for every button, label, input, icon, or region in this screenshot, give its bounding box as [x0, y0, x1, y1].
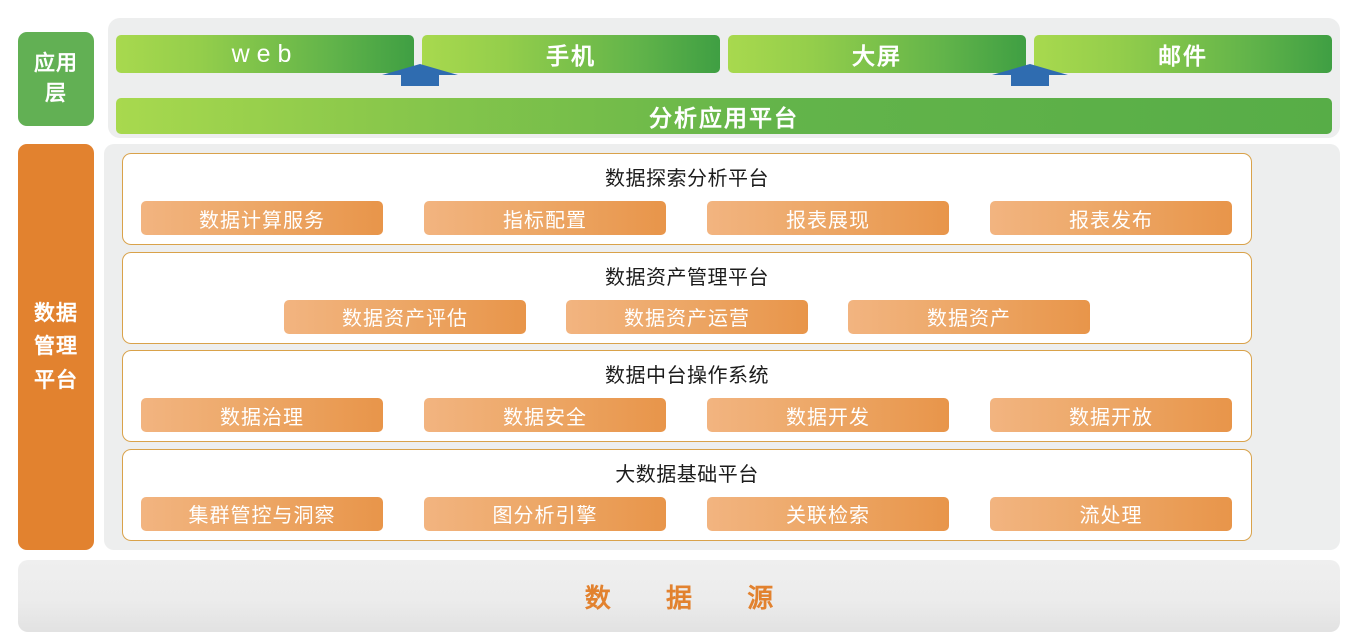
up-arrow-right-icon	[992, 64, 1068, 86]
data-management-platform-tag: 数据 管理 平台	[18, 144, 94, 550]
panel-bigdata-foundation: 大数据基础平台 集群管控与洞察 图分析引擎 关联检索 流处理	[122, 449, 1252, 541]
chip-data-security[interactable]: 数据安全	[424, 398, 666, 432]
application-channel-row: web 手机 大屏 邮件	[116, 35, 1332, 73]
panel-title: 数据资产管理平台	[123, 261, 1251, 290]
chip-data-governance[interactable]: 数据治理	[141, 398, 383, 432]
channel-chip-email[interactable]: 邮件	[1034, 35, 1332, 73]
up-arrow-left-icon	[382, 64, 458, 86]
data-management-container: 数据探索分析平台 数据计算服务 指标配置 报表展现 报表发布 数据资产管理平台 …	[104, 144, 1340, 550]
application-layer-tag-line-2: 层	[45, 79, 67, 109]
chip-data-asset[interactable]: 数据资产	[848, 300, 1090, 334]
application-layer-tag: 应用 层	[18, 32, 94, 126]
data-source-label: 数 据 源	[561, 578, 797, 615]
chip-data-asset-operation[interactable]: 数据资产运营	[566, 300, 808, 334]
panel-title: 大数据基础平台	[123, 458, 1251, 487]
panel-chip-row: 数据计算服务 指标配置 报表展现 报表发布	[141, 201, 1233, 235]
chip-data-compute-service[interactable]: 数据计算服务	[141, 201, 383, 235]
analysis-application-platform-bar[interactable]: 分析应用平台	[116, 98, 1332, 134]
application-layer-tag-line-1: 应用	[34, 49, 78, 79]
data-management-tag-line-2: 管理	[34, 330, 78, 364]
data-source-bar: 数 据 源	[18, 560, 1340, 632]
chip-data-development[interactable]: 数据开发	[707, 398, 949, 432]
data-management-tag-line-1: 数据	[34, 297, 78, 331]
panel-data-asset-management: 数据资产管理平台 数据资产评估 数据资产运营 数据资产	[122, 252, 1252, 344]
chip-cluster-control-insight[interactable]: 集群管控与洞察	[141, 497, 383, 531]
chip-association-search[interactable]: 关联检索	[707, 497, 949, 531]
chip-graph-analysis-engine[interactable]: 图分析引擎	[424, 497, 666, 531]
chip-data-openness[interactable]: 数据开放	[990, 398, 1232, 432]
channel-chip-mobile[interactable]: 手机	[422, 35, 720, 73]
channel-chip-web[interactable]: web	[116, 35, 414, 73]
panel-chip-row: 数据资产评估 数据资产运营 数据资产	[155, 300, 1219, 334]
application-layer-panel: web 手机 大屏 邮件 分析应用平台	[108, 18, 1340, 138]
panel-title: 数据探索分析平台	[123, 162, 1251, 191]
chip-data-asset-assessment[interactable]: 数据资产评估	[284, 300, 526, 334]
application-layer: 应用 层 web 手机 大屏 邮件 分析应用平台	[0, 8, 1356, 134]
platform-panel-stack: 数据探索分析平台 数据计算服务 指标配置 报表展现 报表发布 数据资产管理平台 …	[122, 153, 1252, 541]
chip-report-publish[interactable]: 报表发布	[990, 201, 1232, 235]
channel-chip-bigscreen[interactable]: 大屏	[728, 35, 1026, 73]
panel-title: 数据中台操作系统	[123, 359, 1251, 388]
panel-data-midend-operating-system: 数据中台操作系统 数据治理 数据安全 数据开发 数据开放	[122, 350, 1252, 442]
data-management-layer: 数据 管理 平台 数据探索分析平台 数据计算服务 指标配置 报表展现 报表发布	[0, 141, 1356, 553]
panel-data-exploration-analysis: 数据探索分析平台 数据计算服务 指标配置 报表展现 报表发布	[122, 153, 1252, 245]
architecture-diagram: 应用 层 web 手机 大屏 邮件 分析应用平台 数据	[0, 0, 1356, 638]
chip-stream-processing[interactable]: 流处理	[990, 497, 1232, 531]
chip-report-display[interactable]: 报表展现	[707, 201, 949, 235]
data-management-tag-line-3: 平台	[34, 364, 78, 398]
panel-chip-row: 数据治理 数据安全 数据开发 数据开放	[141, 398, 1233, 432]
chip-metric-config[interactable]: 指标配置	[424, 201, 666, 235]
panel-chip-row: 集群管控与洞察 图分析引擎 关联检索 流处理	[141, 497, 1233, 531]
